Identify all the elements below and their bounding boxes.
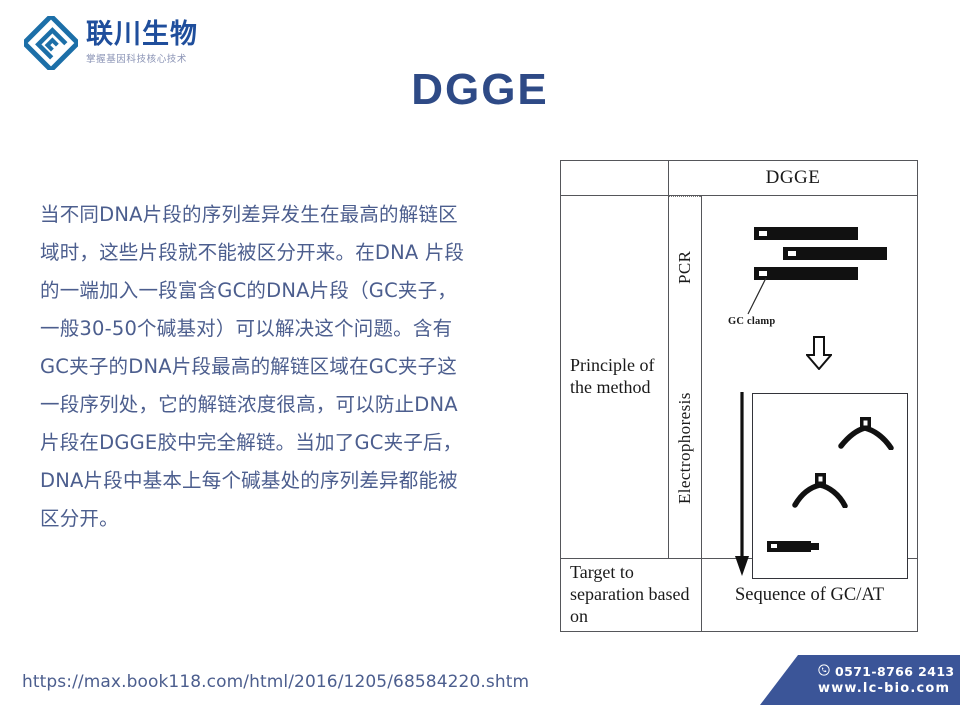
dgge-principle-figure: DGGE Principle of the method PCR Electro… bbox=[560, 160, 918, 632]
body-line: GC夹子的DNA片段最高的解链区域在GC夹子这 bbox=[40, 348, 524, 386]
figure-stage-label-pcr: PCR bbox=[669, 196, 701, 338]
figure-stage-label-electrophoresis: Electrophoresis bbox=[669, 338, 701, 558]
body-line: 区分开。 bbox=[40, 500, 524, 538]
brand-logo: 联川生物 掌握基因科技核心技术 bbox=[24, 16, 198, 70]
intact-dna-band-lower-tail bbox=[809, 543, 819, 550]
gc-clamp-marker-icon bbox=[788, 251, 796, 256]
figure-stage-column: PCR Electrophoresis bbox=[669, 196, 702, 558]
dna-fragment-bar bbox=[754, 227, 858, 240]
logo-text-block: 联川生物 掌握基因科技核心技术 bbox=[86, 21, 198, 64]
gc-clamp-label: GC clamp bbox=[728, 316, 775, 327]
logo-tagline: 掌握基因科技核心技术 bbox=[86, 51, 198, 65]
intact-dna-band-lower bbox=[767, 541, 811, 552]
logo-wordmark: 联川生物 bbox=[86, 21, 198, 49]
source-url[interactable]: https://max.book118.com/html/2016/1205/6… bbox=[22, 672, 529, 692]
figure-main-row: Principle of the method PCR Electrophore… bbox=[561, 196, 917, 558]
gc-clamp-marker-icon bbox=[771, 544, 777, 548]
body-line: DNA片段中基本上每个碱基处的序列差异都能被 bbox=[40, 462, 524, 500]
body-paragraph: 当不同DNA片段的序列差异发生在最高的解链区 域时，这些片段就不能被区分开来。在… bbox=[40, 196, 524, 538]
page-title: DGGE bbox=[0, 65, 960, 115]
body-line: 当不同DNA片段的序列差异发生在最高的解链区 bbox=[40, 196, 524, 234]
contact-phone-line: 0571-8766 2413 bbox=[818, 664, 960, 679]
figure-row-label-target: Target to separation based on bbox=[561, 559, 702, 631]
partially-melted-dna-middle-icon bbox=[791, 472, 851, 508]
body-line: 一段序列处，它的解链浓度很高，可以防止DNA bbox=[40, 386, 524, 424]
liangchuan-diamond-logo-icon bbox=[24, 16, 78, 70]
gc-clamp-leader-line bbox=[732, 276, 782, 318]
figure-header-title: DGGE bbox=[669, 161, 917, 195]
body-line: 域时，这些片段就不能被区分开来。在DNA 片段 bbox=[40, 234, 524, 272]
figure-row-label-principle: Principle of the method bbox=[561, 196, 669, 558]
figure-header-row: DGGE bbox=[561, 161, 917, 196]
figure-artwork-cell: GC clamp bbox=[702, 196, 917, 558]
contact-phone-number: 0571-8766 2413 bbox=[835, 664, 955, 679]
contact-banner: 0571-8766 2413 www.lc-bio.com bbox=[760, 655, 960, 705]
electrophoresis-direction-arrow-icon bbox=[734, 392, 750, 578]
dna-fragment-bar bbox=[783, 247, 887, 260]
figure-header-blank-cell bbox=[561, 161, 669, 195]
partially-melted-dna-upper-icon bbox=[837, 416, 897, 450]
contact-website: www.lc-bio.com bbox=[818, 681, 960, 696]
phone-icon bbox=[818, 664, 830, 679]
gel-box bbox=[752, 393, 908, 579]
body-line: 一般30-50个碱基对）可以解决这个问题。含有 bbox=[40, 310, 524, 348]
body-line: 片段在DGGE胶中完全解链。当加了GC夹子后， bbox=[40, 424, 524, 462]
body-line: 的一端加入一段富含GC的DNA片段（GC夹子， bbox=[40, 272, 524, 310]
gc-clamp-marker-icon bbox=[759, 231, 767, 236]
hollow-down-arrow-icon bbox=[806, 336, 832, 370]
